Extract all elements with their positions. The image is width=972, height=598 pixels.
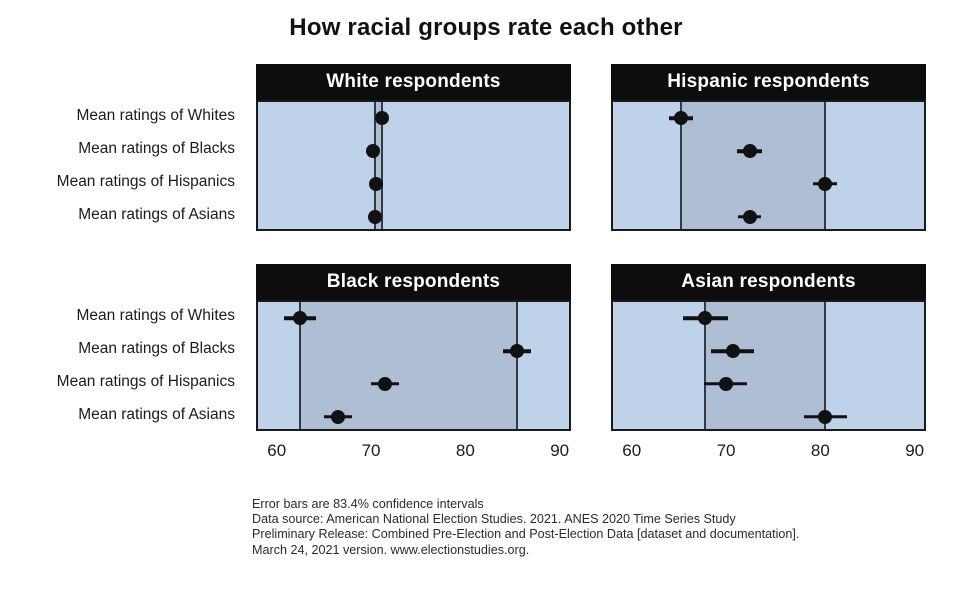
x-axis-asian-respondents: 60708090 xyxy=(611,441,926,463)
panel-asian-respondents xyxy=(611,300,926,431)
data-point xyxy=(743,144,757,158)
footnote-line-1: Error bars are 83.4% confidence interval… xyxy=(252,497,952,512)
data-point xyxy=(375,111,389,125)
panel-title-hispanic-respondents: Hispanic respondents xyxy=(611,64,926,100)
panel-white-respondents xyxy=(256,100,571,231)
footnote-line-2: Data source: American National Election … xyxy=(252,512,952,527)
panel-title-asian-respondents: Asian respondents xyxy=(611,264,926,300)
row-label: Mean ratings of Whites xyxy=(76,307,235,325)
data-point xyxy=(369,177,383,191)
data-point xyxy=(510,344,524,358)
row-label: Mean ratings of Whites xyxy=(76,107,235,125)
data-point xyxy=(674,111,688,125)
row-label: Mean ratings of Hispanics xyxy=(57,373,235,391)
footnote-line-3: Preliminary Release: Combined Pre-Electi… xyxy=(252,527,952,542)
chart-footnote: Error bars are 83.4% confidence interval… xyxy=(252,497,952,558)
x-tick-label: 80 xyxy=(456,441,475,461)
x-axis-black-respondents: 60708090 xyxy=(256,441,571,463)
data-point xyxy=(719,377,733,391)
reference-band xyxy=(300,302,517,429)
row-label: Mean ratings of Asians xyxy=(78,206,235,224)
row-label: Mean ratings of Hispanics xyxy=(57,173,235,191)
data-point xyxy=(726,344,740,358)
panel-title-white-respondents: White respondents xyxy=(256,64,571,100)
x-tick-label: 80 xyxy=(811,441,830,461)
row-label: Mean ratings of Blacks xyxy=(78,340,235,358)
x-tick-label: 90 xyxy=(550,441,569,461)
data-point xyxy=(818,177,832,191)
data-point xyxy=(368,210,382,224)
x-tick-label: 90 xyxy=(905,441,924,461)
data-point xyxy=(331,410,345,424)
row-label: Mean ratings of Blacks xyxy=(78,140,235,158)
reference-band xyxy=(705,302,825,429)
row-label-group: Mean ratings of WhitesMean ratings of Bl… xyxy=(20,300,235,431)
reference-line-2 xyxy=(516,302,518,429)
data-point xyxy=(366,144,380,158)
row-label-group: Mean ratings of WhitesMean ratings of Bl… xyxy=(20,100,235,231)
reference-line-2 xyxy=(824,102,826,229)
x-tick-label: 60 xyxy=(267,441,286,461)
x-tick-label: 70 xyxy=(717,441,736,461)
panel-title-black-respondents: Black respondents xyxy=(256,264,571,300)
row-label: Mean ratings of Asians xyxy=(78,406,235,424)
footnote-line-4: March 24, 2021 version. www.electionstud… xyxy=(252,543,952,558)
data-point xyxy=(698,311,712,325)
data-point xyxy=(378,377,392,391)
panel-black-respondents xyxy=(256,300,571,431)
x-tick-label: 60 xyxy=(622,441,641,461)
x-tick-label: 70 xyxy=(362,441,381,461)
data-point xyxy=(818,410,832,424)
page-title: How racial groups rate each other xyxy=(0,14,972,42)
data-point xyxy=(293,311,307,325)
data-point xyxy=(743,210,757,224)
panel-hispanic-respondents xyxy=(611,100,926,231)
